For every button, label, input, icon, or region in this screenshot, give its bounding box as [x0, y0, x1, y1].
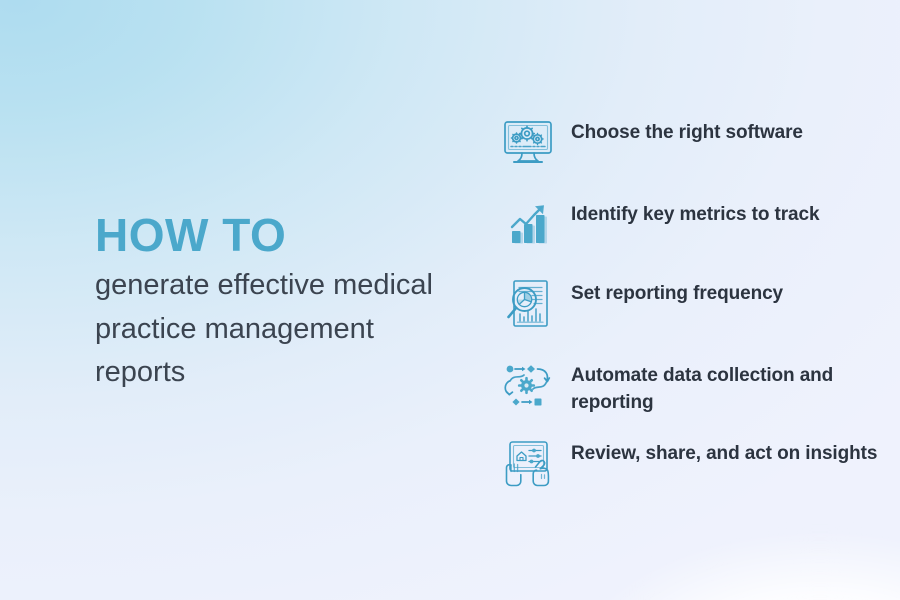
step-item-automate-collection: Automate data collection and reporting — [497, 355, 887, 417]
step-label: Set reporting frequency — [559, 273, 887, 308]
steps-list: Choose the right software — [497, 112, 887, 495]
headline-subhead: generate effective medical practice mana… — [95, 264, 455, 395]
bottom-arc-decoration — [560, 530, 900, 600]
step-item-set-frequency: Set reporting frequency — [497, 273, 887, 335]
step-label: Identify key metrics to track — [559, 194, 887, 229]
workflow-gear-icon — [497, 355, 559, 417]
tablet-hands-icon — [497, 433, 559, 495]
bar-chart-arrow-icon — [497, 194, 559, 256]
step-label: Choose the right software — [559, 112, 887, 147]
report-magnifier-icon — [497, 273, 559, 335]
headline-block: HOW TO generate effective medical practi… — [95, 212, 455, 395]
step-label: Review, share, and act on insights — [559, 433, 887, 468]
headline-eyebrow: HOW TO — [95, 212, 455, 258]
step-item-identify-metrics: Identify key metrics to track — [497, 194, 887, 256]
step-item-choose-software: Choose the right software — [497, 112, 887, 174]
step-label: Automate data collection and reporting — [559, 355, 887, 417]
infographic-canvas: HOW TO generate effective medical practi… — [0, 0, 900, 600]
monitor-gears-icon — [497, 112, 559, 174]
step-item-review-share: Review, share, and act on insights — [497, 433, 887, 495]
